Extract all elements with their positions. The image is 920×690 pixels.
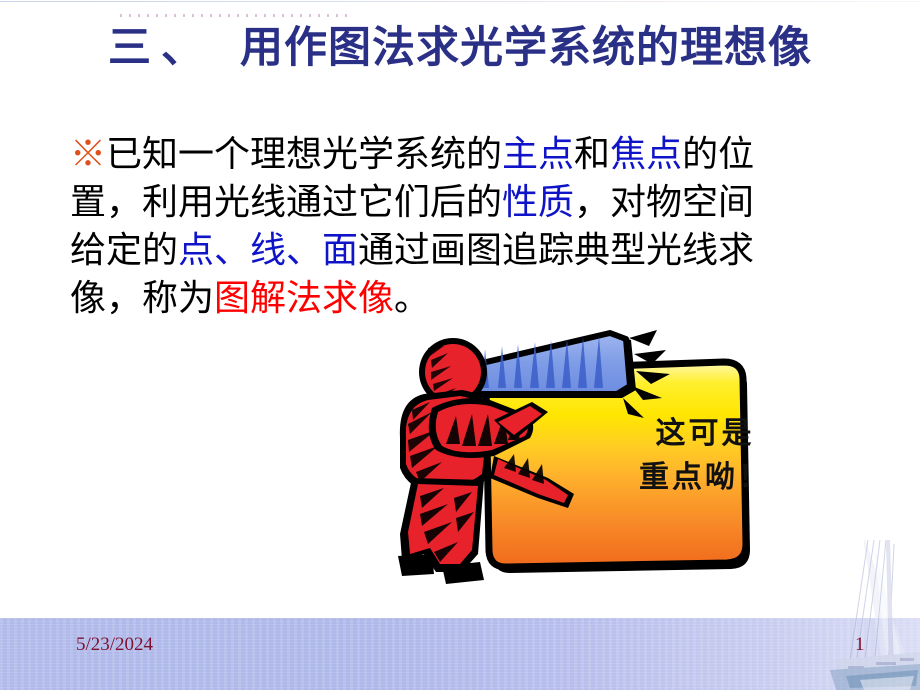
body-line-1-seg-3: 的位 [682, 134, 754, 174]
footer-page-number: 1 [855, 634, 865, 656]
banner-caption: 这可是 重点呦！ [625, 412, 785, 500]
body-paragraph: ※已知一个理想光学系统的主点和焦点的位 置，利用光线通过它们后的性质，对物空间 … [70, 130, 870, 322]
banner-caption-line-2: 重点呦！ [625, 456, 785, 500]
body-line-1-highlight-1: 主点 [502, 134, 574, 174]
footer-date: 5/23/2024 [76, 634, 153, 656]
title-text: 用作图法求光学系统的理想像 [240, 25, 812, 72]
body-line-3-highlight-1: 点、线、面 [178, 230, 358, 270]
body-line-2: 置，利用光线通过它们后的性质，对物空间 [70, 178, 870, 226]
bullet-marker-icon: ※ [70, 134, 106, 174]
body-line-3: 给定的点、线、面通过画图追踪典型光线求 [70, 226, 870, 274]
body-line-4-seg-2: 。 [394, 278, 430, 318]
body-line-1-seg-2: 和 [574, 134, 610, 174]
top-dotted-accent [120, 14, 350, 17]
page-title: 三、用作图法求光学系统的理想像 [0, 22, 920, 76]
body-line-4: 像，称为图解法求像。 [70, 274, 870, 322]
body-line-4-highlight-1: 图解法求像 [214, 278, 394, 318]
body-line-4-seg-1: 像，称为 [70, 278, 214, 318]
slide-canvas: 三、用作图法求光学系统的理想像 ※已知一个理想光学系统的主点和焦点的位 置，利用… [0, 0, 920, 690]
body-line-1-highlight-2: 焦点 [610, 134, 682, 174]
body-line-3-seg-2: 通过画图追踪典型光线求 [358, 230, 754, 270]
body-line-1-seg-1: 已知一个理想光学系统的 [106, 134, 502, 174]
body-line-2-highlight-1: 性质 [502, 182, 574, 222]
body-line-3-seg-1: 给定的 [70, 230, 178, 270]
title-number: 三、 [108, 25, 214, 72]
body-line-1: ※已知一个理想光学系统的主点和焦点的位 [70, 130, 870, 178]
body-line-2-seg-2: ，对物空间 [574, 182, 754, 222]
body-line-2-seg-1: 置，利用光线通过它们后的 [70, 182, 502, 222]
top-divider-line [0, 1, 920, 2]
banner-caption-line-1: 这可是 [625, 412, 785, 456]
